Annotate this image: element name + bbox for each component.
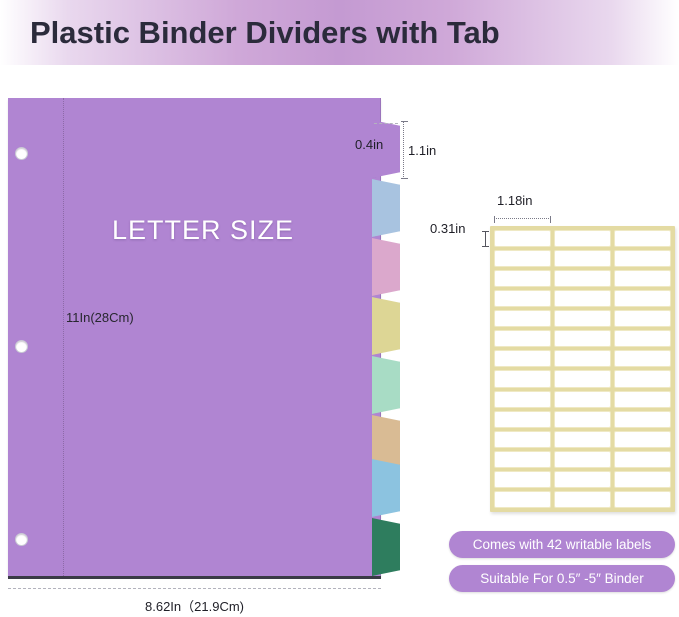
tab-darkgreen	[372, 518, 400, 576]
label-cell	[554, 491, 611, 508]
label-cell	[554, 431, 611, 448]
label-cell	[614, 431, 671, 448]
label-cell	[554, 330, 611, 347]
label-cell	[554, 350, 611, 367]
writable-label-sheet	[490, 226, 675, 512]
divider-bottom-edge	[8, 576, 381, 579]
label-cell	[554, 270, 611, 287]
tab-pink	[372, 238, 400, 296]
punch-hole	[15, 533, 28, 546]
label-cell	[494, 370, 551, 387]
label-width-label: 1.18in	[497, 193, 532, 208]
label-cell	[614, 350, 671, 367]
tab-mint	[372, 356, 400, 414]
page-title: Plastic Binder Dividers with Tab	[30, 15, 500, 51]
label-cell	[614, 471, 671, 488]
label-cell	[494, 330, 551, 347]
divider-height-label: 11In(28Cm)	[66, 310, 134, 325]
label-cell	[554, 391, 611, 408]
label-cell	[614, 370, 671, 387]
label-cell	[494, 411, 551, 428]
label-cell	[614, 310, 671, 327]
label-width-dimension-line	[494, 218, 551, 219]
label-cell	[614, 270, 671, 287]
punch-hole	[15, 340, 28, 353]
label-cell	[554, 310, 611, 327]
label-cell	[494, 230, 551, 247]
label-cell	[494, 471, 551, 488]
label-cell	[614, 330, 671, 347]
label-cell	[494, 491, 551, 508]
badge-binder-size: Suitable For 0.5″ -5″ Binder	[449, 565, 675, 592]
label-cell	[614, 250, 671, 267]
badge-binder-size-text: Suitable For 0.5″ -5″ Binder	[480, 571, 643, 586]
badge-writable-labels: Comes with 42 writable labels	[449, 531, 675, 558]
label-cell	[554, 230, 611, 247]
tab-height-label: 1.1in	[408, 143, 436, 158]
tab-blue	[372, 459, 400, 517]
label-cell	[554, 471, 611, 488]
label-cell	[614, 230, 671, 247]
tab-width-label: 0.4in	[355, 137, 383, 152]
label-cell	[494, 270, 551, 287]
label-cell	[614, 491, 671, 508]
label-cell	[494, 431, 551, 448]
label-cell	[494, 391, 551, 408]
label-cell	[554, 370, 611, 387]
tab-yellow	[372, 297, 400, 355]
label-cell	[614, 411, 671, 428]
label-cell	[554, 451, 611, 468]
label-cell	[494, 350, 551, 367]
label-cell	[494, 310, 551, 327]
label-cell	[554, 290, 611, 307]
label-cell	[554, 250, 611, 267]
label-height-label: 0.31in	[430, 221, 465, 236]
label-cell	[614, 290, 671, 307]
punch-hole	[15, 147, 28, 160]
label-cell	[494, 290, 551, 307]
divider-width-label: 8.62In（21.9Cm)	[145, 596, 244, 615]
label-cell	[494, 451, 551, 468]
tab-lightblue	[372, 179, 400, 237]
product-infographic: Plastic Binder Dividers with Tab LETTER …	[0, 0, 679, 617]
label-height-dimension-line	[485, 231, 486, 247]
letter-size-label: LETTER SIZE	[112, 215, 294, 246]
label-cell	[554, 411, 611, 428]
label-cell	[494, 250, 551, 267]
divider-fold-line	[63, 98, 64, 576]
badge-writable-labels-text: Comes with 42 writable labels	[473, 537, 652, 552]
tab-height-dimension-line	[403, 121, 404, 179]
divider-width-dimension-line	[8, 588, 381, 589]
label-cell	[614, 391, 671, 408]
label-cell	[614, 451, 671, 468]
tab-width-dimension-line	[374, 123, 398, 124]
header-banner: Plastic Binder Dividers with Tab	[0, 0, 679, 65]
